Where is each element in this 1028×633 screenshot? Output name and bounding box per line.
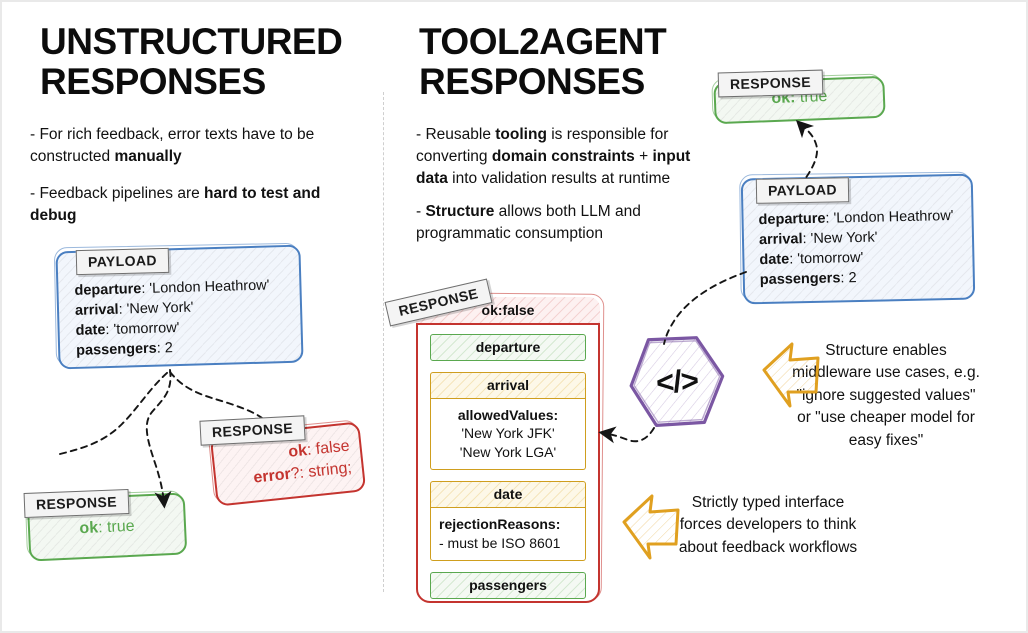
diagram-canvas: UNSTRUCTURED RESPONSES - For rich feedba… bbox=[0, 0, 1028, 633]
right-bullet-1-text: - Reusable tooling is responsible for co… bbox=[416, 126, 690, 187]
structured-response-card: ok:false departure arrival allowedValues… bbox=[416, 297, 600, 603]
field-name: departure bbox=[430, 334, 586, 361]
payload-key: departure bbox=[74, 281, 141, 299]
code-badge: </> bbox=[623, 328, 731, 436]
left-bullet-1-text: - For rich feedback, error texts have to… bbox=[30, 126, 314, 165]
right-bullet-1: - Reusable tooling is responsible for co… bbox=[416, 124, 726, 190]
response-key: error bbox=[253, 466, 292, 487]
right-payload-tag: PAYLOAD bbox=[756, 177, 849, 204]
field-name: passengers bbox=[430, 572, 586, 599]
payload-value: : 2 bbox=[157, 340, 174, 356]
field-detail-line: - must be ISO 8601 bbox=[439, 535, 560, 551]
field-detail: allowedValues: 'New York JFK' 'New York … bbox=[430, 399, 586, 470]
field-detail-line: 'New York LGA' bbox=[460, 444, 556, 460]
payload-value: : 'tomorrow' bbox=[789, 250, 863, 268]
response-key: ok bbox=[79, 519, 98, 537]
right-bullet-2: - Structure allows both LLM and programm… bbox=[416, 201, 706, 245]
right-response-true-tag: RESPONSE bbox=[718, 70, 824, 98]
left-column-heading: UNSTRUCTURED RESPONSES bbox=[40, 22, 370, 102]
payload-value: : 'London Heathrow' bbox=[141, 277, 269, 297]
field-detail-line: 'New York JFK' bbox=[461, 425, 554, 441]
left-bullet-2: - Feedback pipelines are hard to test an… bbox=[30, 183, 360, 227]
payload-key: arrival bbox=[75, 302, 119, 319]
field-date: date rejectionReasons: - must be ISO 860… bbox=[430, 481, 586, 561]
payload-key: arrival bbox=[759, 231, 803, 248]
response-value: : false bbox=[306, 438, 350, 459]
annotation-middleware: Structure enables middleware use cases, … bbox=[788, 340, 984, 452]
field-detail: rejectionReasons: - must be ISO 8601 bbox=[430, 508, 586, 561]
payload-value: : 2 bbox=[840, 270, 856, 286]
field-detail-label: rejectionReasons: bbox=[439, 516, 560, 532]
right-column-heading: TOOL2AGENT RESPONSES bbox=[419, 22, 749, 102]
field-name: date bbox=[430, 481, 586, 508]
connector-left-true bbox=[147, 370, 171, 503]
right-bullet-2-text: - Structure allows both LLM and programm… bbox=[416, 203, 641, 242]
field-detail-label: allowedValues: bbox=[458, 407, 558, 423]
payload-key: passengers bbox=[76, 341, 157, 359]
payload-value: : 'London Heathrow' bbox=[825, 208, 953, 227]
payload-key: date bbox=[75, 322, 105, 339]
structured-response-body: ok:false departure arrival allowedValues… bbox=[416, 297, 600, 603]
left-response-true-tag: RESPONSE bbox=[24, 489, 130, 518]
response-key: ok bbox=[288, 442, 308, 461]
left-bullet-2-text: - Feedback pipelines are hard to test an… bbox=[30, 185, 320, 224]
payload-key: departure bbox=[758, 211, 825, 228]
annotation-strict-typing: Strictly typed interface forces develope… bbox=[672, 492, 864, 559]
field-name: arrival bbox=[430, 372, 586, 399]
field-passengers: passengers bbox=[430, 572, 586, 599]
callout-arrow-strict-typing bbox=[624, 496, 678, 558]
left-payload-tag: PAYLOAD bbox=[76, 248, 170, 275]
response-value: ?: string; bbox=[290, 460, 353, 483]
left-bullet-1: - For rich feedback, error texts have to… bbox=[30, 124, 360, 168]
code-badge-glyph: </> bbox=[625, 330, 730, 435]
response-value: : true bbox=[98, 518, 135, 537]
payload-key: passengers bbox=[760, 270, 841, 288]
field-arrival: arrival allowedValues: 'New York JFK' 'N… bbox=[430, 372, 586, 470]
structured-field-list: departure arrival allowedValues: 'New Yo… bbox=[416, 325, 600, 599]
payload-key: date bbox=[759, 251, 789, 268]
payload-value: : 'New York' bbox=[118, 300, 193, 318]
column-divider bbox=[383, 92, 384, 592]
field-departure: departure bbox=[430, 334, 586, 361]
payload-value: : 'tomorrow' bbox=[105, 320, 179, 338]
payload-value: : 'New York' bbox=[802, 230, 877, 248]
